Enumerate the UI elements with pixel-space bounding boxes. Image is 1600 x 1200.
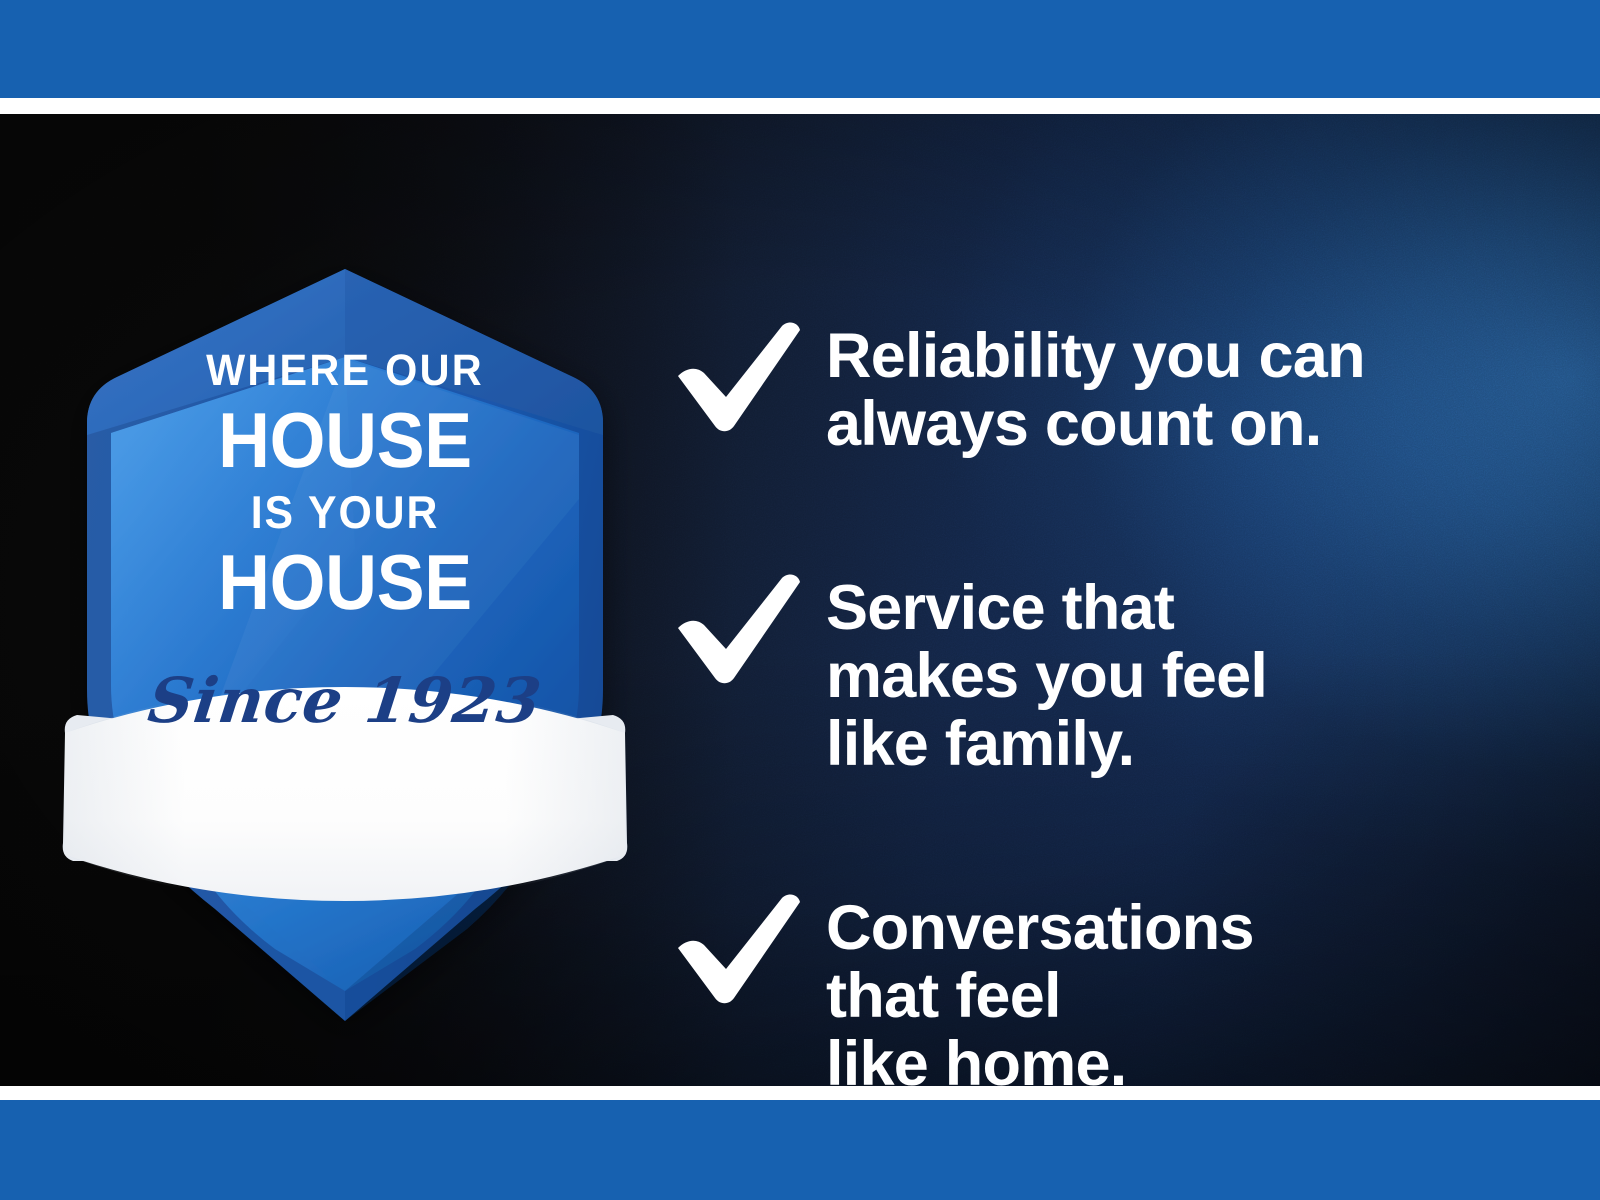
list-item-text: Service that makes you feel like family. — [826, 570, 1532, 778]
badge-ribbon-since-text: Since 1923 — [51, 664, 640, 737]
badge-line-house-2: HOUSE — [78, 543, 612, 621]
top-brand-bar — [0, 0, 1600, 98]
hero-stage: WHERE OUR HOUSE IS YOUR HOUSE Since 1923… — [0, 114, 1600, 1086]
list-item: Reliability you can always count on. — [672, 318, 1532, 458]
checkmark-icon — [672, 890, 804, 1010]
list-item: Conversations that feel like home. — [672, 890, 1532, 1086]
checkmark-icon — [672, 570, 804, 690]
badge-line-where-our: WHERE OUR — [72, 349, 617, 393]
list-item: Service that makes you feel like family. — [672, 570, 1532, 778]
bottom-brand-bar — [0, 1100, 1600, 1200]
promo-graphic: WHERE OUR HOUSE IS YOUR HOUSE Since 1923… — [0, 0, 1600, 1200]
badge-line-house-1: HOUSE — [78, 401, 612, 479]
checkmark-icon — [672, 318, 804, 438]
list-item-text: Reliability you can always count on. — [826, 318, 1532, 458]
badge-line-is-your: IS YOUR — [75, 489, 614, 535]
shield-badge: WHERE OUR HOUSE IS YOUR HOUSE Since 1923 — [55, 249, 635, 909]
list-item-text: Conversations that feel like home. — [826, 890, 1532, 1086]
